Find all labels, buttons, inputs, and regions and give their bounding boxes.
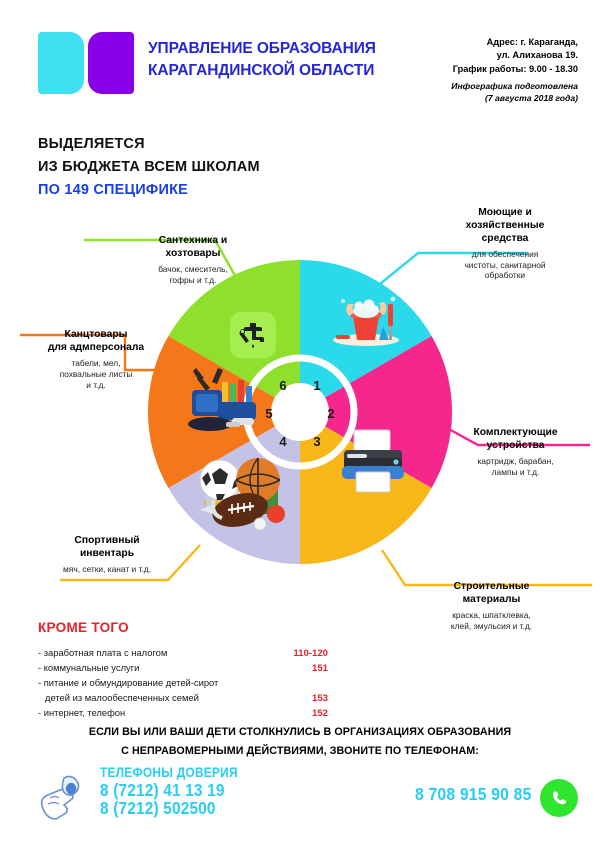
whatsapp-block: 8 708 915 90 85 [368,779,578,817]
organization-title-line2: КАРАГАНДИНСКОЙ ОБЛАСТИ [148,60,418,82]
address-block: Адрес: г. Караганда, ул. Алиханова 19. Г… [413,36,578,76]
logo-right-shape [88,32,134,94]
moreover-row-label: детей из малообеспеченных семей [45,692,199,703]
moreover-row-value: 153 [312,691,328,706]
callout-2-title-l2: устройства [438,440,593,453]
working-hours-line: График работы: 9.00 - 18.30 [413,63,578,76]
hotline-number-1[interactable]: 8 (7212) 41 13 19 [100,781,238,800]
callout-segment-6: Сантехника и хозтовары бачок, смеситель,… [118,235,268,286]
callout-3-sub-l2: клей, эмульсия и т.д. [404,621,579,632]
moreover-row-label: - питание и обмундирование детей-сирот [38,677,218,688]
pie-label-1: 1 [310,378,324,393]
call-to-action: ЕСЛИ ВЫ ИЛИ ВАШИ ДЕТИ СТОЛКНУЛИСЬ В ОРГА… [0,723,600,760]
callout-segment-3: Строительные материалы краска, шпатклевк… [404,581,579,632]
callout-5-title-l2: для адмперсонала [22,342,170,355]
moreover-row-label: - заработная плата с налогом [38,647,167,658]
callout-6-sub: бачок, смеситель, гофры и т.д. [118,264,268,286]
pie-label-2: 2 [324,406,338,421]
callout-1-sub-l2: чистоты, санитарной [425,260,585,271]
donut-chart: 6 1 5 2 4 3 [148,260,452,564]
callout-2-sub: картридж, барабан, лампы и т.д. [438,456,593,478]
moreover-row: - коммунальные услуги 151 [38,661,338,676]
callout-1-sub: для обеспечения чистоты, санитарной обра… [425,249,585,282]
callout-4-title-l2: инвентарь [22,548,192,561]
hotline-text: ТЕЛЕФОНЫ ДОВЕРИЯ 8 (7212) 41 13 19 8 (72… [100,766,238,818]
callout-segment-1: Моющие и хозяйственные средства для обес… [425,207,585,281]
callout-2-sub-l2: лампы и т.д. [438,467,593,478]
hand-phone-icon [38,772,100,822]
infographic-note: Инфографика подготовлена (7 августа 2018… [413,80,578,104]
callout-1-sub-l1: для обеспечения [425,249,585,260]
education-department-logo [38,32,134,94]
callout-2-sub-l1: картридж, барабан, [438,456,593,467]
pie-label-6: 6 [276,378,290,393]
callout-1-title: Моющие и хозяйственные средства [425,207,585,246]
hotline-block: ТЕЛЕФОНЫ ДОВЕРИЯ 8 (7212) 41 13 19 8 (72… [38,766,328,828]
hotline-label: ТЕЛЕФОНЫ ДОВЕРИЯ [100,766,238,781]
callout-4-sub: мяч, сетки, канат и т.д. [22,564,192,575]
callout-3-title-l1: Строительные [404,581,579,594]
moreover-section: КРОМЕ ТОГО - заработная плата с налогом … [38,620,338,721]
callout-5-sub-l2: похвальные листы [22,369,170,380]
callout-3-sub-l1: краска, шпатклевка, [404,610,579,621]
moreover-row: - питание и обмундирование детей-сирот [38,676,338,691]
infographic-note-line1: Инфографика подготовлена [413,80,578,92]
callout-3-title: Строительные материалы [404,581,579,607]
callout-2-title-l1: Комплектующие [438,427,593,440]
callout-1-title-l2: хозяйственные [425,220,585,233]
callout-6-title: Сантехника и хозтовары [118,235,268,261]
moreover-row: детей из малообеспеченных семей 153 [38,691,338,706]
callout-6-sub-l1: бачок, смеситель, [118,264,268,275]
callout-segment-5: Канцтовары для адмперсонала табели, мел,… [22,329,170,390]
organization-title-line1: УПРАВЛЕНИЕ ОБРАЗОВАНИЯ [148,38,418,60]
organization-title: УПРАВЛЕНИЕ ОБРАЗОВАНИЯ КАРАГАНДИНСКОЙ ОБ… [148,38,418,83]
callout-4-sub-l1: мяч, сетки, канат и т.д. [22,564,192,575]
callout-5-sub-l1: табели, мел, [22,358,170,369]
moreover-row: - заработная плата с налогом 110-120 [38,646,338,661]
callout-5-sub: табели, мел, похвальные листы и т.д. [22,358,170,391]
moreover-row-value: 151 [312,661,328,676]
moreover-row: - интернет, телефон 152 [38,706,338,721]
moreover-row-label: - интернет, телефон [38,707,125,718]
callout-4-title: Спортивный инвентарь [22,535,192,561]
logo-left-shape [38,32,84,94]
callout-1-sub-l3: обработки [425,270,585,281]
moreover-row-value: 152 [312,706,328,721]
cta-line2: С НЕПРАВОМЕРНЫМИ ДЕЙСТВИЯМИ, ЗВОНИТЕ ПО … [0,742,600,761]
callout-3-title-l2: материалы [404,594,579,607]
moreover-row-label: - коммунальные услуги [38,662,139,673]
pie-label-5: 5 [262,406,276,421]
budget-pie-chart: 6 1 5 2 4 3 [0,195,600,615]
moreover-row-value: 110-120 [293,646,328,661]
moreover-list: - заработная плата с налогом 110-120 - к… [38,646,338,721]
hotline-number-2[interactable]: 8 (7212) 502500 [100,799,238,818]
callout-1-title-l3: средства [425,233,585,246]
callout-6-title-l1: Сантехника и [118,235,268,248]
callout-segment-4: Спортивный инвентарь мяч, сетки, канат и… [22,535,192,575]
infographic-note-line2: (7 августа 2018 года) [413,92,578,104]
callout-5-title-l1: Канцтовары [22,329,170,342]
callout-5-sub-l3: и т.д. [22,380,170,391]
callout-segment-2: Комплектующие устройства картридж, бараб… [438,427,593,478]
pie-label-3: 3 [310,434,324,449]
callout-6-sub-l2: гофры и т.д. [118,275,268,286]
page-title-line2: ИЗ БЮДЖЕТА ВСЕМ ШКОЛАМ [38,156,260,179]
callout-1-title-l1: Моющие и [425,207,585,220]
whatsapp-number[interactable]: 8 708 915 90 85 [415,784,532,805]
callout-6-title-l2: хозтовары [118,248,268,261]
page-title-line1: ВЫДЕЛЯЕТСЯ [38,133,260,156]
cta-line1: ЕСЛИ ВЫ ИЛИ ВАШИ ДЕТИ СТОЛКНУЛИСЬ В ОРГА… [0,723,600,742]
whatsapp-icon[interactable] [540,779,578,817]
pie-label-4: 4 [276,434,290,449]
moreover-heading: КРОМЕ ТОГО [38,620,338,635]
callout-3-sub: краска, шпатклевка, клей, эмульсия и т.д… [404,610,579,632]
callout-4-title-l1: Спортивный [22,535,192,548]
infographic-page: УПРАВЛЕНИЕ ОБРАЗОВАНИЯ КАРАГАНДИНСКОЙ ОБ… [0,0,600,848]
callout-5-title: Канцтовары для адмперсонала [22,329,170,355]
page-title: ВЫДЕЛЯЕТСЯ ИЗ БЮДЖЕТА ВСЕМ ШКОЛАМ ПО 149… [38,133,260,203]
address-line2: ул. Алиханова 19. [413,49,578,62]
address-line1: Адрес: г. Караганда, [413,36,578,49]
callout-2-title: Комплектующие устройства [438,427,593,453]
page-header: УПРАВЛЕНИЕ ОБРАЗОВАНИЯ КАРАГАНДИНСКОЙ ОБ… [0,0,600,112]
